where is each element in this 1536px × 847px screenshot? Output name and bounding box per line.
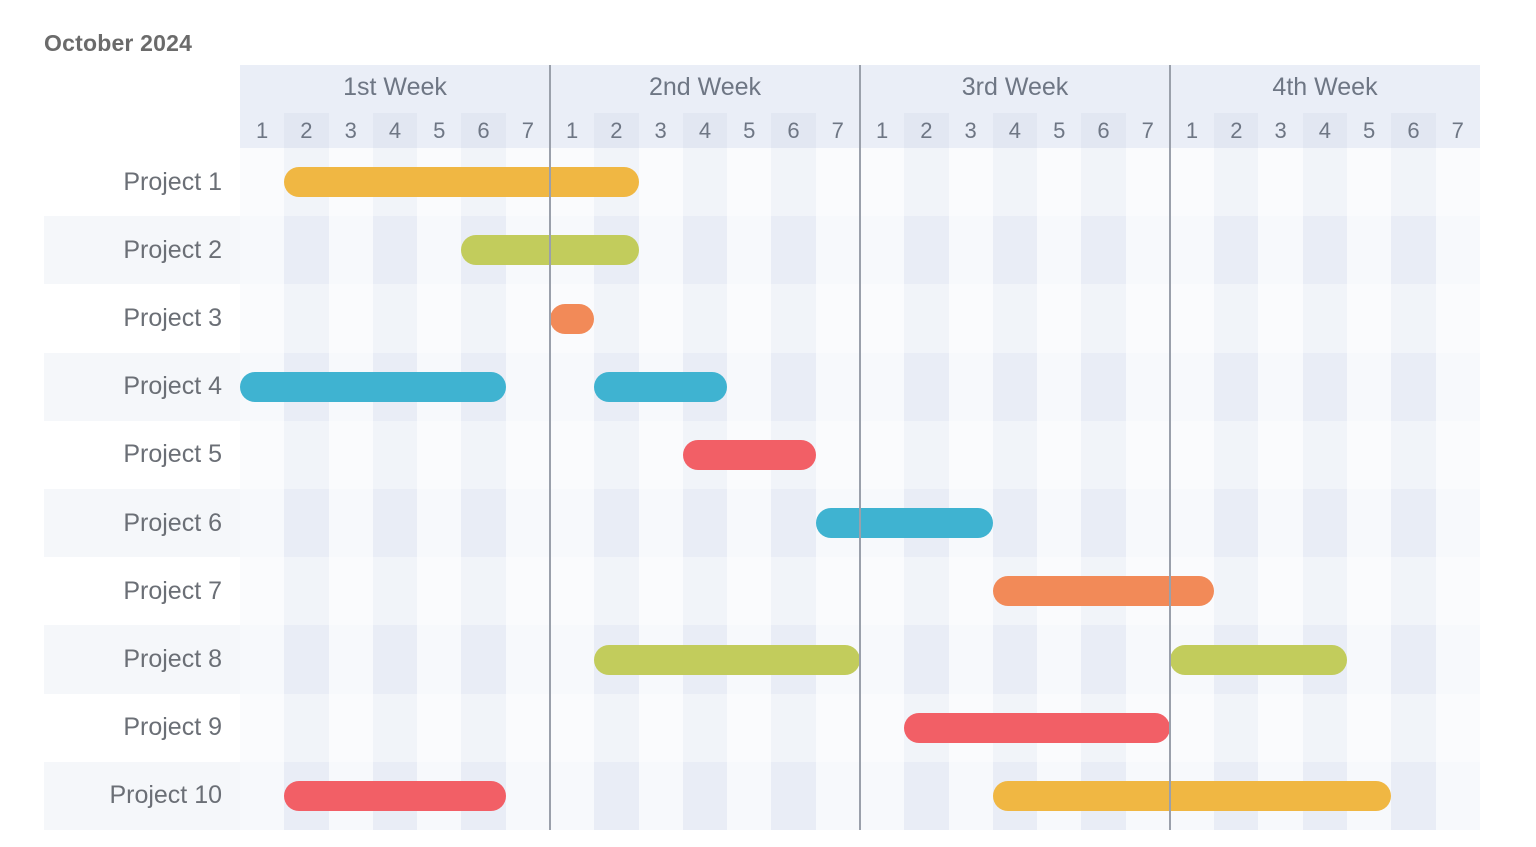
day-header-cell: 7 — [1436, 113, 1480, 148]
task-bar[interactable] — [284, 781, 505, 811]
task-bar[interactable] — [816, 508, 993, 538]
day-header-cell: 7 — [816, 113, 860, 148]
day-header-cell: 5 — [1037, 113, 1081, 148]
task-bar[interactable] — [284, 167, 638, 197]
project-label-8: Project 8 — [44, 625, 240, 693]
project-label-column: Project 1Project 2Project 3Project 4Proj… — [44, 65, 240, 830]
day-header-cell: 2 — [594, 113, 638, 148]
day-header-cell: 2 — [904, 113, 948, 148]
day-header-cell: 2 — [1214, 113, 1258, 148]
project-label-1: Project 1 — [44, 148, 240, 216]
week-divider — [1169, 65, 1171, 830]
day-header-cell: 3 — [1258, 113, 1302, 148]
day-header-cell: 4 — [1303, 113, 1347, 148]
project-label-7: Project 7 — [44, 557, 240, 625]
project-label-3: Project 3 — [44, 284, 240, 352]
day-header-cell: 1 — [240, 113, 284, 148]
day-header-cell: 6 — [1391, 113, 1435, 148]
day-header-cell: 5 — [727, 113, 771, 148]
week-header-1: 1st Week — [240, 65, 550, 113]
week-header-4: 4th Week — [1170, 65, 1480, 113]
week-divider — [549, 65, 551, 830]
day-header-cell: 6 — [1081, 113, 1125, 148]
week-header-3: 3rd Week — [860, 65, 1170, 113]
day-header-cell: 5 — [417, 113, 461, 148]
gantt-grid: 1st Week2nd Week3rd Week4th Week 1234567… — [240, 65, 1480, 830]
project-label-5: Project 5 — [44, 421, 240, 489]
week-divider — [859, 65, 861, 830]
day-header-cell: 4 — [993, 113, 1037, 148]
task-bar[interactable] — [683, 440, 816, 470]
task-bar[interactable] — [1170, 645, 1347, 675]
day-header-cell: 3 — [639, 113, 683, 148]
day-header-cell: 6 — [771, 113, 815, 148]
week-header-2: 2nd Week — [550, 65, 860, 113]
task-bar[interactable] — [993, 576, 1214, 606]
task-bar[interactable] — [240, 372, 506, 402]
day-header-cell: 4 — [373, 113, 417, 148]
task-bar[interactable] — [550, 304, 594, 334]
page-title: October 2024 — [44, 30, 192, 57]
day-header-cell: 3 — [329, 113, 373, 148]
day-header-cell: 7 — [1126, 113, 1170, 148]
day-header-cell: 1 — [860, 113, 904, 148]
task-bar[interactable] — [594, 372, 727, 402]
task-bar[interactable] — [993, 781, 1392, 811]
day-header-cell: 3 — [949, 113, 993, 148]
project-label-6: Project 6 — [44, 489, 240, 557]
gantt-chart-page: October 2024 Project 1Project 2Project 3… — [0, 0, 1536, 847]
day-header-cell: 1 — [550, 113, 594, 148]
day-header-cell: 4 — [683, 113, 727, 148]
project-label-4: Project 4 — [44, 353, 240, 421]
day-header-cell: 5 — [1347, 113, 1391, 148]
project-label-2: Project 2 — [44, 216, 240, 284]
task-bar[interactable] — [904, 713, 1170, 743]
task-bar[interactable] — [594, 645, 860, 675]
project-label-9: Project 9 — [44, 694, 240, 762]
day-header-cell: 6 — [461, 113, 505, 148]
day-header-cell: 1 — [1170, 113, 1214, 148]
day-header-cell: 7 — [506, 113, 550, 148]
project-label-10: Project 10 — [44, 762, 240, 830]
gantt-container: Project 1Project 2Project 3Project 4Proj… — [44, 65, 1480, 830]
day-header-cell: 2 — [284, 113, 328, 148]
